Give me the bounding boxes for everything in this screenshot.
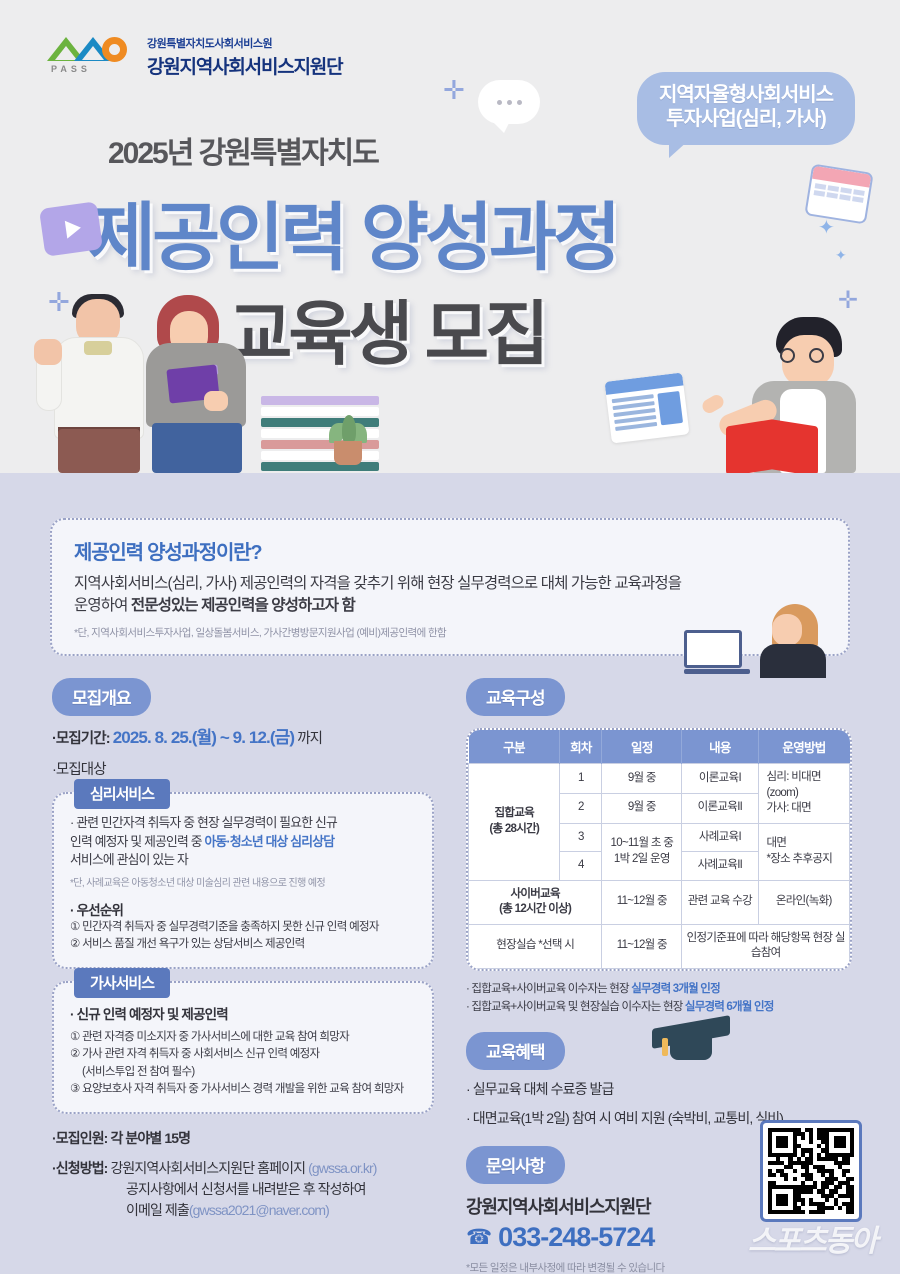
bubble-line-1: 지역자율형사회서비스 [659,83,833,107]
man-pants-shape [58,429,140,473]
table-cell-content: 이론교육I [682,764,758,794]
laptop-icon [684,630,750,674]
email-address[interactable]: (gwssa2021@naver.com) [189,1202,329,1218]
illustration-people-left [18,273,298,473]
telephone-icon: ☎ [466,1225,491,1250]
table-cell-schedule: 9월 중 [602,793,682,823]
quota-value: 각 분야별 15명 [110,1130,190,1146]
psych-line-3: 서비스에 관심이 있는 자 [70,851,416,870]
poster-root: PASS 강원특별자치도사회서비스원 강원지역사회서비스지원단 지역자율형사회서… [0,0,900,1274]
apply-line-3-plain: 이메일 제출 [126,1202,189,1218]
dots-bubble-icon [478,80,540,124]
page-title: 제공인력 양성과정 [88,178,617,285]
housekeeping-item-sub: (서비스투입 전 참여 필수) [70,1064,416,1081]
contact-badge: 문의사항 [466,1146,565,1184]
psych-line-2-highlight: 아동·청소년 대상 심리상담 [204,834,334,849]
qr-code[interactable] [760,1120,862,1222]
education-note: · 집합교육+사이버교육 및 현장실습 이수자는 현장 실무경력 6개월 인정 [466,998,852,1016]
group-line-2: (총 12시간 이상) [499,903,571,915]
definition-line-2-strong: 전문성있는 제공인력을 양성하고자 함 [131,597,355,614]
logo-org-sub: 강원특별자치도사회서비스원 [147,35,342,51]
table-cell-schedule: 11~12월 중 [602,924,682,968]
psych-line-2: 인력 예정자 및 제공인력 중 아동·청소년 대상 심리상담 [70,833,416,852]
homepage-url[interactable]: (gwssa.or.kr) [308,1160,376,1176]
housekeeping-service-card: 가사서비스 · 신규 인력 예정자 및 제공인력 ① 관련 자격증 미소지자 중… [52,981,434,1114]
table-cell-group: 사이버교육 (총 12시간 이상) [469,880,602,924]
graduation-cap-icon [652,1016,730,1066]
logo-pass-label: PASS [51,64,91,74]
method-line-1: 심리: 비대면(zoom) [767,771,821,799]
logo-text-block: 강원특별자치도사회서비스원 강원지역사회서비스지원단 [147,33,342,79]
contact-phone-number[interactable]: 033-248-5724 [498,1222,654,1253]
psych-line-2-plain: 인력 예정자 및 제공인력 중 [70,834,204,849]
logo-org-main: 강원지역사회서비스지원단 [147,52,342,79]
psych-service-card: 심리서비스 · 관련 민간자격 취득자 중 현장 실무경력이 필요한 신규 인력… [52,792,434,969]
method-line-2: 가사: 대면 [767,802,812,814]
logo-chevron-blue-inner-icon [82,46,104,60]
woman-skirt-shape [152,423,242,473]
housekeeping-service-badge: 가사서비스 [74,968,170,998]
bubble-line-2: 투자사업(심리, 가사) [659,107,833,131]
program-name-bubble: 지역자율형사회서비스 투자사업(심리, 가사) [637,72,855,145]
hero-section: PASS 강원특별자치도사회서비스원 강원지역사회서비스지원단 지역자율형사회서… [0,0,900,495]
glasses-icon [780,348,824,363]
table-cell-method: 온라인(녹화) [758,880,849,924]
table-cell-schedule: 10~11월 초 중 1박 2일 운영 [602,823,682,880]
man-collar-shape [84,341,112,355]
recruit-target-label: ·모집대상 [52,760,434,780]
definition-heading: 제공인력 양성과정이란? [74,536,826,565]
psych-priority-item: ① 민간자격 취득자 중 실무경력기준을 충족하지 못한 신규 인력 예정자 [70,919,416,936]
man-fist-shape [34,339,62,365]
pointing-hand-icon [700,392,726,415]
definition-line-2: 운영하여 전문성있는 제공인력을 양성하고자 함 [74,595,826,617]
education-note-highlight: 실무경력 3개월 인정 [631,983,720,995]
apply-line-2: 공지사항에서 신청서를 내려받은 후 작성하여 [52,1179,434,1200]
table-header-cell: 운영방법 [758,730,849,764]
organization-logo: PASS 강원특별자치도사회서비스원 강원지역사회서비스지원단 [45,33,342,79]
hero-bottom-strip [0,473,900,495]
watermark: 스포츠동아 [748,1216,876,1260]
table-cell-method: 심리: 비대면(zoom) 가사: 대면 [758,764,849,824]
recruit-column: 모집개요 ·모집기간: 2025. 8. 25.(월) ~ 9. 12.(금) … [52,678,434,1221]
housekeeping-item: ① 관련 자격증 미소지자 중 가사서비스에 대한 교육 참여 희망자 [70,1029,416,1046]
method-line-2: *장소 추후공지 [767,853,833,865]
table-cell-group: 집합교육 (총 28시간) [469,764,560,881]
woman-hand-shape [204,391,228,411]
education-table: 구분 회차 일정 내용 운영방법 집합교육 (총 28시간) 1 9 [468,730,850,969]
quota-label: ·모집인원: [52,1130,110,1146]
definition-line-2-plain: 운영하여 [74,597,131,614]
education-note-plain: · 집합교육+사이버교육 이수자는 현장 [466,983,631,995]
contact-disclaimer: *모든 일정은 내부사정에 따라 변경될 수 있습니다 [466,1260,852,1274]
psych-note: *단, 사례교육은 아동청소년 대상 미술심리 관련 내용으로 진행 예정 [70,874,416,889]
qr-code-matrix [768,1128,854,1214]
document-card-icon [605,372,690,443]
table-cell-content: 관련 교육 수강 [682,880,758,924]
apply-info-block: ·모집인원: 각 분야별 15명 ·신청방법: 강원지역사회서비스지원단 홈페이… [52,1128,434,1221]
table-cell-group: 현장실습 *선택 시 [469,924,602,968]
method-line-1: 대면 [767,837,787,849]
group-line-1: 사이버교육 [510,888,559,900]
table-cell-schedule: 11~12월 중 [602,880,682,924]
schedule-line-2: 1박 2일 운영 [614,853,670,865]
education-note: · 집합교육+사이버교육 이수자는 현장 실무경력 3개월 인정 [466,980,852,998]
table-header-cell: 일정 [602,730,682,764]
recruit-period-row: ·모집기간: 2025. 8. 25.(월) ~ 9. 12.(금) 까지 [52,726,434,750]
pass-logo-mark: PASS [45,33,137,79]
table-header-row: 구분 회차 일정 내용 운영방법 [469,730,850,764]
illustration-person-right [592,283,882,473]
apply-label: ·신청방법: [52,1160,110,1176]
benefit-line: · 실무교육 대체 수료증 발급 [466,1079,852,1099]
housekeeping-line-1: · 신규 인력 예정자 및 제공인력 [70,1003,416,1023]
title-year: 2025년 강원특별자치도 [108,128,378,172]
table-cell-no: 3 [560,823,602,852]
table-cell-no: 2 [560,793,602,823]
video-card-icon [39,201,103,257]
apply-row: ·신청방법: 강원지역사회서비스지원단 홈페이지 (gwssa.or.kr) [52,1158,434,1179]
table-cell-content: 사례교육II [682,852,758,881]
table-header-cell: 구분 [469,730,560,764]
psych-priority-heading: · 우선순위 [70,899,416,919]
psych-service-badge: 심리서비스 [74,779,170,809]
calendar-card-icon [804,163,873,224]
woman-sitting-illustration [758,604,832,676]
group-line-1: 집합교육 [494,807,534,819]
psych-priority-item: ② 서비스 품질 개선 욕구가 있는 상담서비스 제공인력 [70,936,416,953]
table-cell-content-span: 인정기준표에 따라 해당항목 현장 실습참여 [682,924,850,968]
plant-icon [328,413,368,465]
table-cell-no: 4 [560,852,602,881]
logo-ring-icon [102,37,127,62]
housekeeping-item: ③ 요양보호사 자격 취득자 중 가사서비스 경력 개발을 위한 교육 참여 희… [70,1081,416,1098]
recruit-period-value: 2025. 8. 25.(월) ~ 9. 12.(금) [113,728,294,747]
education-note-plain: · 집합교육+사이버교육 및 현장실습 이수자는 현장 [466,1001,685,1013]
education-table-wrapper: 구분 회차 일정 내용 운영방법 집합교육 (총 28시간) 1 9 [466,728,852,971]
recruit-period-label: ·모집기간: [52,731,113,747]
plus-decor-icon: ✛ [443,75,465,106]
housekeeping-item: ② 가사 관련 자격 취득자 중 사회서비스 신규 인력 예정자 [70,1046,416,1063]
apply-line-1-plain: 강원지역사회서비스지원단 홈페이지 [110,1160,308,1176]
table-cell-schedule: 9월 중 [602,764,682,794]
recruit-overview-badge: 모집개요 [52,678,151,716]
education-note-highlight: 실무경력 6개월 인정 [685,1001,774,1013]
table-cell-method: 대면 *장소 추후공지 [758,823,849,880]
table-header-cell: 회차 [560,730,602,764]
benefit-badge: 교육혜택 [466,1032,565,1070]
table-cell-content: 이론교육II [682,793,758,823]
sparkle-decor-icon: ✦ [835,247,847,264]
table-cell-no: 1 [560,764,602,794]
schedule-line-1: 10~11월 초 중 [611,837,674,849]
education-structure-badge: 교육구성 [466,678,565,716]
quota-row: ·모집인원: 각 분야별 15명 [52,1128,434,1149]
table-row: 현장실습 *선택 시 11~12월 중 인정기준표에 따라 해당항목 현장 실습… [469,924,850,968]
recruit-period-suffix: 까지 [294,731,322,747]
benefit-header: 교육혜택 [466,1032,852,1070]
education-notes: · 집합교육+사이버교육 이수자는 현장 실무경력 3개월 인정 · 집합교육+… [466,980,852,1017]
table-cell-content: 사례교육I [682,823,758,852]
apply-line-3: 이메일 제출(gwssa2021@naver.com) [52,1200,434,1221]
table-header-cell: 내용 [682,730,758,764]
definition-line-1: 지역사회서비스(심리, 가사) 제공인력의 자격을 갖추기 위해 현장 실무경력… [74,573,826,595]
psych-line-1: · 관련 민간자격 취득자 중 현장 실무경력이 필요한 신규 [70,814,416,833]
table-row: 집합교육 (총 28시간) 1 9월 중 이론교육I 심리: 비대면(zoom)… [469,764,850,794]
group-line-2: (총 28시간) [489,823,539,835]
open-book-icon [726,421,818,473]
table-row: 사이버교육 (총 12시간 이상) 11~12월 중 관련 교육 수강 온라인(… [469,880,850,924]
